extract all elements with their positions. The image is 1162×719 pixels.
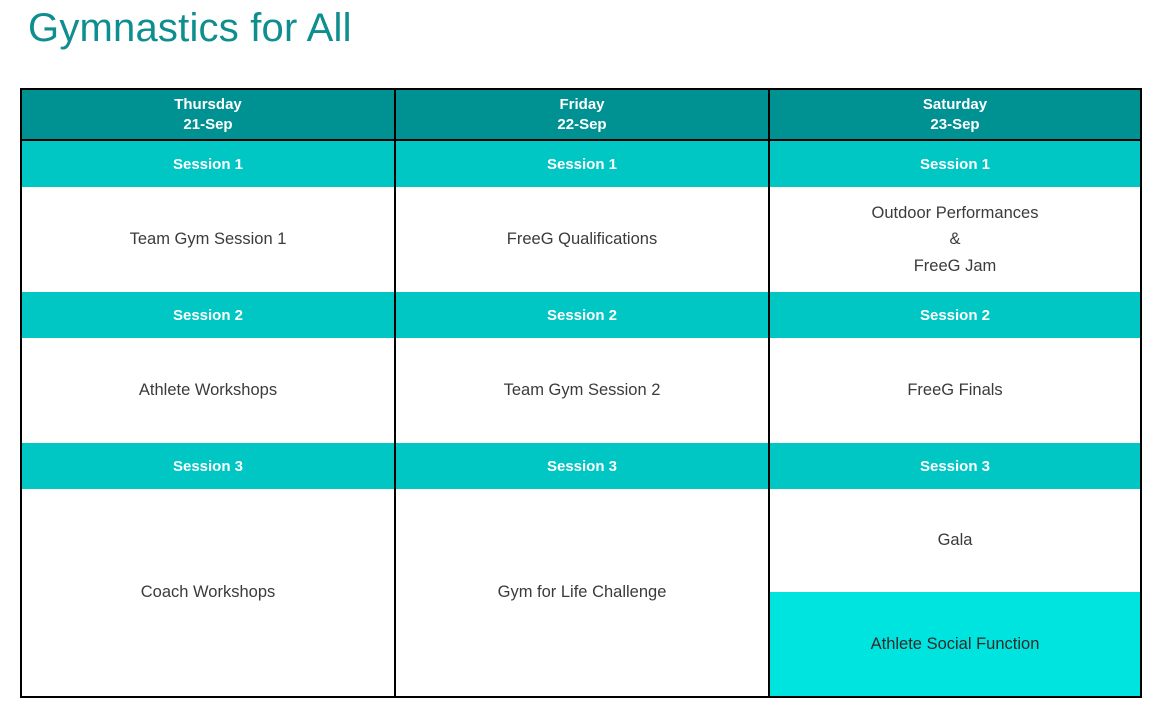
day-name: Thursday: [174, 95, 242, 114]
session-bar-saturday-2: Session 2: [770, 292, 1140, 338]
day-header-thursday: Thursday 21-Sep: [22, 90, 394, 141]
session-bar-saturday-1: Session 1: [770, 141, 1140, 187]
session-activity-saturday-1: Outdoor Performances & FreeG Jam: [770, 187, 1140, 292]
activity-line: Team Gym Session 1: [130, 226, 287, 252]
session-activity-friday-3: Gym for Life Challenge: [396, 489, 768, 696]
day-column-saturday: Saturday 23-Sep Session 1 Outdoor Perfor…: [770, 90, 1140, 696]
session-activity-friday-2: Team Gym Session 2: [396, 338, 768, 443]
session-bar-thursday-1: Session 1: [22, 141, 394, 187]
day-name: Friday: [559, 95, 604, 114]
activity-line: FreeG Qualifications: [507, 226, 657, 252]
day-column-thursday: Thursday 21-Sep Session 1 Team Gym Sessi…: [22, 90, 396, 696]
session-bar-saturday-3: Session 3: [770, 443, 1140, 489]
activity-line: FreeG Finals: [907, 377, 1002, 403]
athlete-social-function-cell: Athlete Social Function: [770, 592, 1140, 696]
activity-line: FreeG Jam: [872, 253, 1039, 279]
session-activity-friday-1: FreeG Qualifications: [396, 187, 768, 292]
day-header-friday: Friday 22-Sep: [396, 90, 768, 141]
session-activity-thursday-2: Athlete Workshops: [22, 338, 394, 443]
activity-line: Gym for Life Challenge: [498, 579, 667, 605]
activity-line: Athlete Workshops: [139, 377, 277, 403]
session-bar-thursday-3: Session 3: [22, 443, 394, 489]
session-bar-friday-1: Session 1: [396, 141, 768, 187]
activity-line: Team Gym Session 2: [504, 377, 661, 403]
session-bar-friday-2: Session 2: [396, 292, 768, 338]
day-date: 21-Sep: [183, 115, 232, 134]
day-name: Saturday: [923, 95, 987, 114]
day-column-friday: Friday 22-Sep Session 1 FreeG Qualificat…: [396, 90, 770, 696]
activity-line: Coach Workshops: [141, 579, 276, 605]
day-header-saturday: Saturday 23-Sep: [770, 90, 1140, 141]
page-title: Gymnastics for All: [28, 6, 352, 51]
session-activity-saturday-3: Gala: [770, 489, 1140, 592]
activity-line: Gala: [938, 527, 973, 553]
activity-line: Outdoor Performances: [872, 200, 1039, 226]
session-bar-friday-3: Session 3: [396, 443, 768, 489]
schedule-table: Thursday 21-Sep Session 1 Team Gym Sessi…: [20, 88, 1142, 698]
session-activity-thursday-1: Team Gym Session 1: [22, 187, 394, 292]
day-date: 22-Sep: [557, 115, 606, 134]
activity-line: &: [872, 226, 1039, 252]
session-activity-thursday-3: Coach Workshops: [22, 489, 394, 696]
day-date: 23-Sep: [930, 115, 979, 134]
session-activity-saturday-2: FreeG Finals: [770, 338, 1140, 443]
session-bar-thursday-2: Session 2: [22, 292, 394, 338]
